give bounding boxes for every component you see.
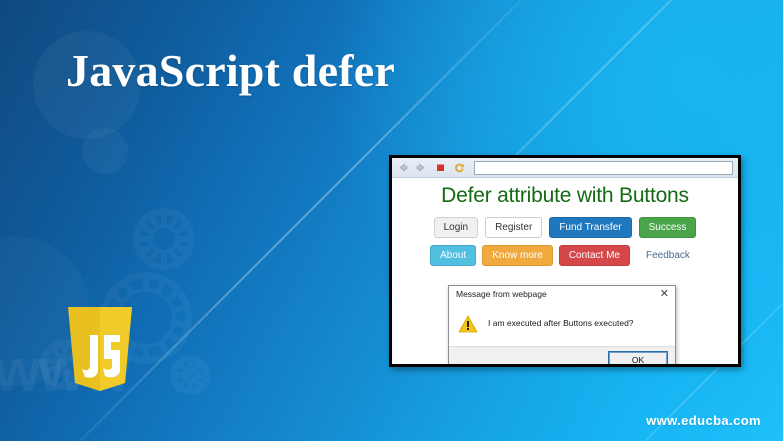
webpage-heading: Defer attribute with Buttons <box>392 184 738 208</box>
browser-window: Defer attribute with Buttons Login Regis… <box>389 155 741 367</box>
webpage-button-row-2: About Know more Contact Me Feedback <box>392 245 738 266</box>
dialog-footer: OK <box>449 346 675 364</box>
warning-triangle-icon <box>458 315 478 333</box>
fund-transfer-button[interactable]: Fund Transfer <box>549 217 631 238</box>
decor-gear-icon <box>133 208 195 270</box>
decor-gear-icon <box>170 355 210 395</box>
slide-background: www JavaScript defer www.educba.com <box>0 0 783 441</box>
webpage-button-row-1: Login Register Fund Transfer Success <box>392 217 738 238</box>
javascript-logo <box>62 307 138 391</box>
dialog-body: I am executed after Buttons executed? <box>449 303 675 346</box>
about-button[interactable]: About <box>430 245 476 266</box>
login-button[interactable]: Login <box>434 217 478 238</box>
stop-square-icon[interactable] <box>433 160 448 175</box>
dialog-titlebar: Message from webpage ✕ <box>449 286 675 303</box>
success-button[interactable]: Success <box>639 217 697 238</box>
browser-toolbar <box>392 158 738 178</box>
refresh-icon[interactable] <box>452 160 467 175</box>
dialog-title: Message from webpage <box>456 289 658 299</box>
ok-button[interactable]: OK <box>609 352 667 364</box>
dialog-message: I am executed after Buttons executed? <box>488 318 634 329</box>
page-title: JavaScript defer <box>66 44 395 97</box>
webpage-content: Defer attribute with Buttons Login Regis… <box>392 178 738 364</box>
footer-url: www.educba.com <box>646 413 761 428</box>
close-x-icon[interactable]: ✕ <box>658 289 671 300</box>
contact-me-button[interactable]: Contact Me <box>559 245 630 266</box>
forward-arrow-icon[interactable] <box>414 160 429 175</box>
decor-circle <box>82 128 128 174</box>
alert-dialog: Message from webpage ✕ I am executed aft… <box>448 285 676 364</box>
feedback-button[interactable]: Feedback <box>636 245 700 266</box>
address-bar-input[interactable] <box>474 161 733 175</box>
back-arrow-icon[interactable] <box>395 160 410 175</box>
browser-inner: Defer attribute with Buttons Login Regis… <box>392 158 738 364</box>
know-more-button[interactable]: Know more <box>482 245 553 266</box>
register-button[interactable]: Register <box>485 217 542 238</box>
